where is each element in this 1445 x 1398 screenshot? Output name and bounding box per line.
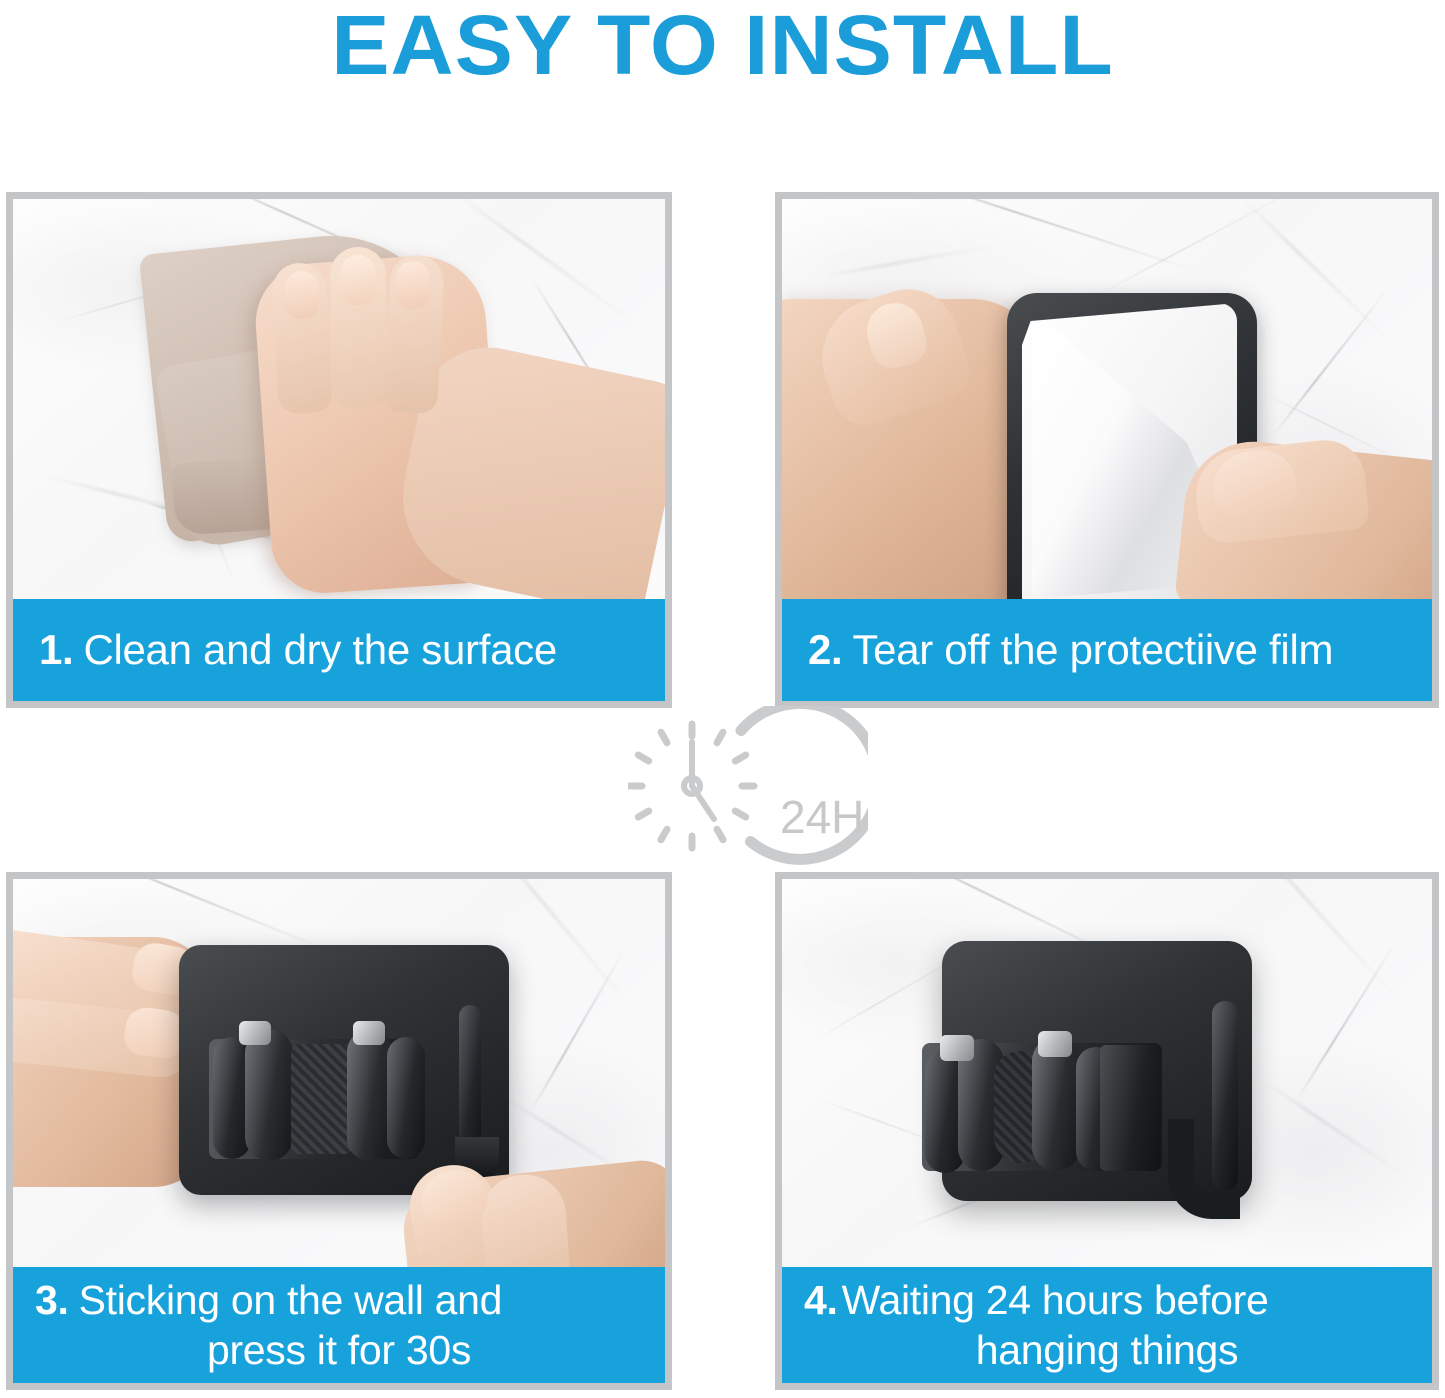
- step-2-number: 2.: [808, 626, 842, 673]
- clock-icon: [628, 706, 868, 874]
- cradle-roller: [387, 1037, 425, 1159]
- cradle-screw: [353, 1021, 385, 1045]
- step-1-caption-line-1: 1.Clean and dry the surface: [39, 625, 639, 675]
- clock-graphic: 24H: [628, 706, 868, 874]
- cradle-roller: [245, 1029, 293, 1161]
- fingernail: [396, 261, 430, 309]
- step-3-caption-line-2: press it for 30s: [35, 1325, 643, 1375]
- step-2-photo: [782, 199, 1432, 599]
- hook-curve: [1168, 1119, 1240, 1219]
- step-1-number: 1.: [39, 626, 73, 673]
- infographic-page: EASY TO INSTALL: [0, 0, 1445, 1398]
- page-title: EASY TO INSTALL: [0, 2, 1445, 88]
- step-3-caption-line-1: 3.Sticking on the wall and: [35, 1275, 643, 1325]
- fingernail: [340, 255, 376, 305]
- step-3-text-1: Sticking on the wall and: [79, 1277, 503, 1323]
- cradle-bracket: [1100, 1045, 1160, 1171]
- step-4-caption: 4.Waiting 24 hours before hanging things: [782, 1267, 1432, 1383]
- step-1-caption: 1.Clean and dry the surface: [13, 599, 665, 701]
- step-3-caption: 3.Sticking on the wall and press it for …: [13, 1267, 665, 1383]
- step-4-text-1: Waiting 24 hours before: [842, 1277, 1269, 1323]
- step-3-photo: [13, 879, 665, 1267]
- step-4-caption-line-1: 4.Waiting 24 hours before: [804, 1275, 1410, 1325]
- step-1-photo: [13, 199, 665, 599]
- step-card-1: 1.Clean and dry the surface: [6, 192, 672, 708]
- step-2-caption-line-1: 2.Tear off the protectiive film: [808, 625, 1406, 675]
- step-2-text: Tear off the protectiive film: [852, 626, 1333, 673]
- step-1-text: Clean and dry the surface: [83, 626, 556, 673]
- cradle-roller: [1032, 1037, 1080, 1171]
- cradle-screw: [239, 1021, 271, 1045]
- step-card-4: 4.Waiting 24 hours before hanging things: [775, 872, 1439, 1390]
- cradle-grip-pad: [291, 1044, 353, 1154]
- cradle-screw: [1038, 1031, 1072, 1057]
- step-4-photo: [782, 879, 1432, 1267]
- step-2-caption: 2.Tear off the protectiive film: [782, 599, 1432, 701]
- step-4-number: 4.: [804, 1277, 838, 1323]
- fingernail: [285, 271, 319, 319]
- step-card-2: 2.Tear off the protectiive film: [775, 192, 1439, 708]
- cradle-screw: [940, 1035, 974, 1061]
- step-3-number: 3.: [35, 1277, 69, 1323]
- clock-hour-hand: [692, 786, 714, 819]
- clock-center-pin: [684, 778, 700, 794]
- clock-duration-label: 24H: [780, 794, 864, 840]
- step-4-caption-line-2: hanging things: [804, 1325, 1410, 1375]
- step-card-3: 3.Sticking on the wall and press it for …: [6, 872, 672, 1390]
